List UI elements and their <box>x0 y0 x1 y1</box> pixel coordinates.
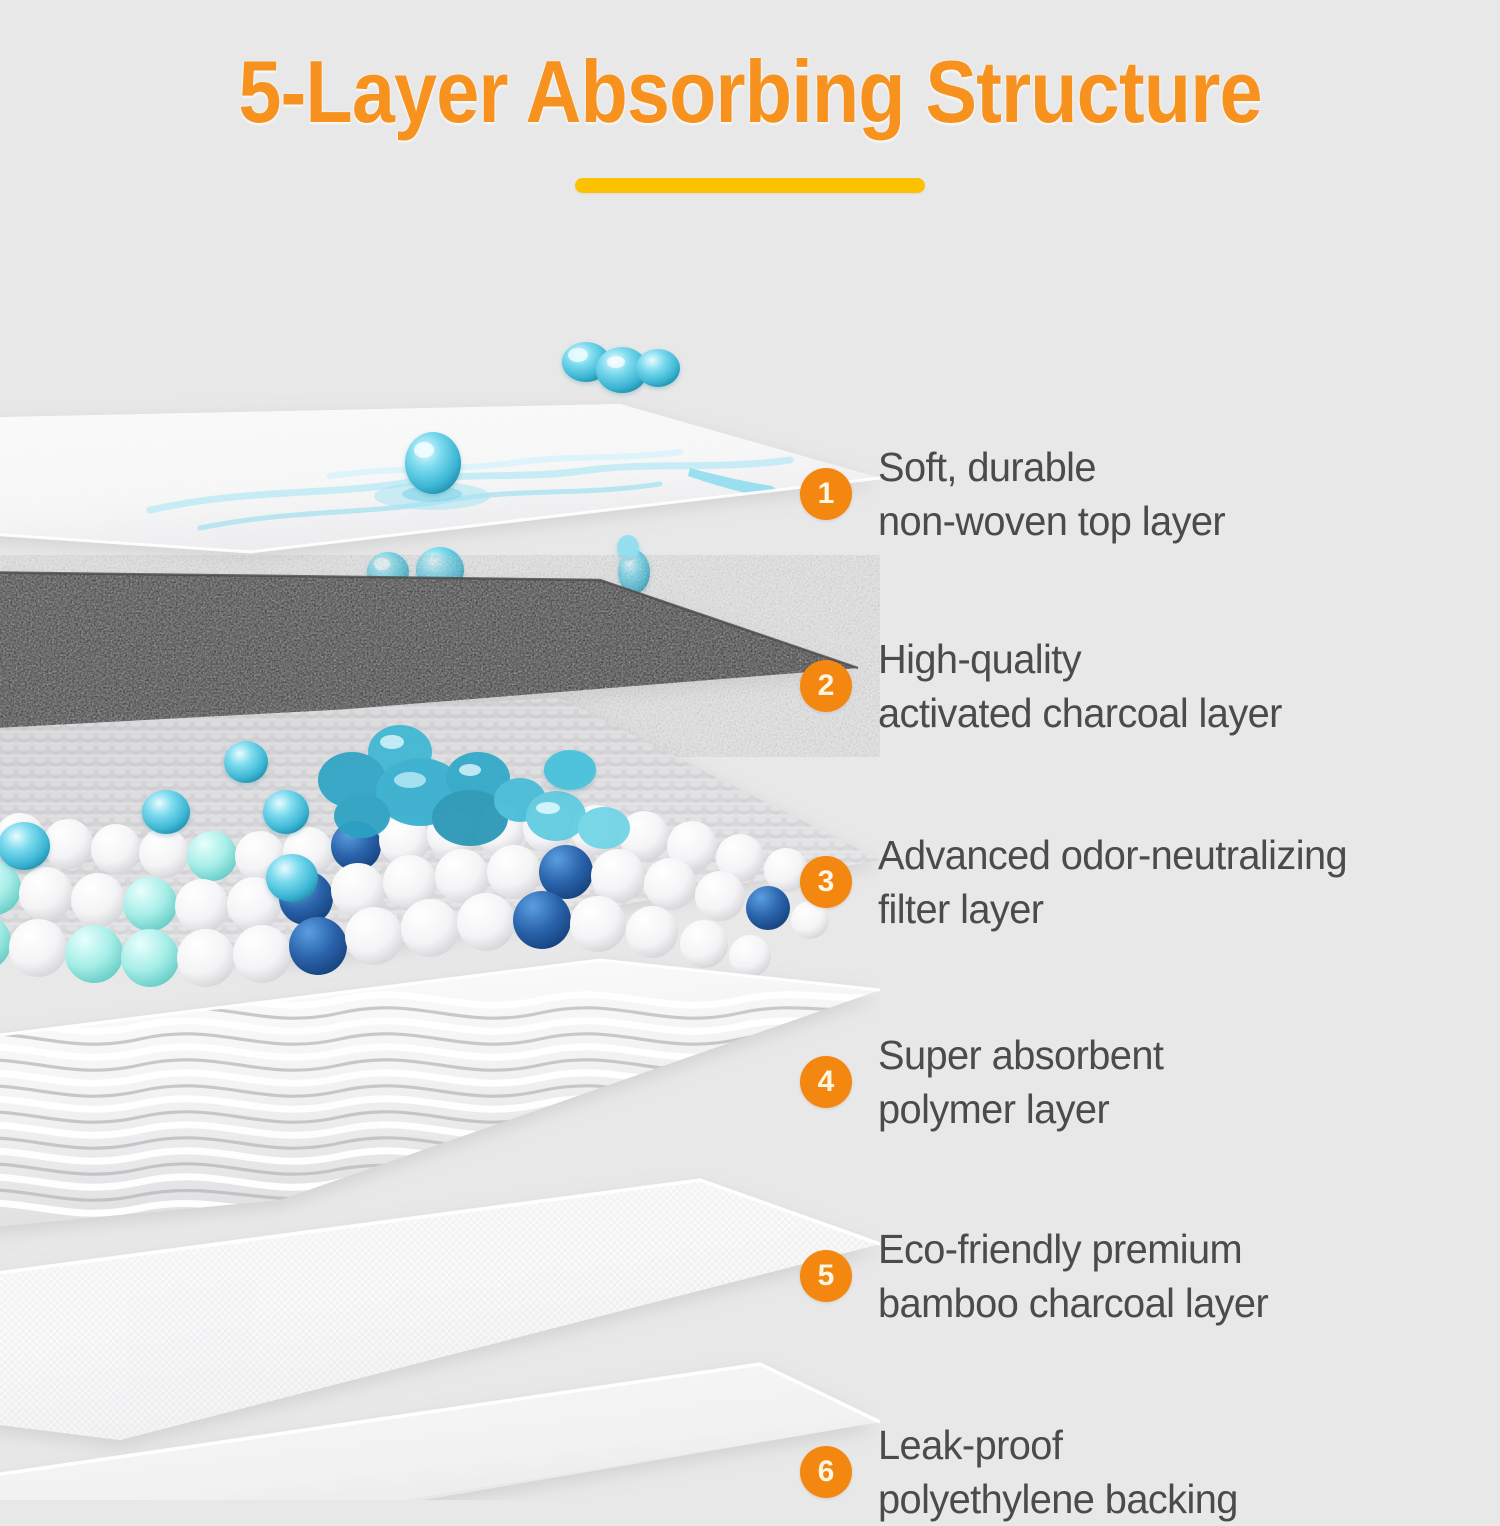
callout-badge-3: 3 <box>800 856 852 908</box>
callout-list: 1 Soft, durable non-woven top layer 2 Hi… <box>800 300 1500 1500</box>
callout-badge-6: 6 <box>800 1446 852 1498</box>
surface-droplet <box>405 432 461 494</box>
layer-3-odor-filter-layer <box>0 690 880 987</box>
callout-label-4: Super absorbent polymer layer <box>878 1028 1163 1136</box>
callout-item-1[interactable]: 1 Soft, durable non-woven top layer <box>800 440 1236 548</box>
callout-label-1: Soft, durable non-woven top layer <box>878 440 1225 548</box>
title-underline-rule <box>575 178 925 193</box>
callout-badge-2: 2 <box>800 660 852 712</box>
title-block: 5-Layer Absorbing Structure <box>0 46 1500 193</box>
callout-label-5: Eco-friendly premium bamboo charcoal lay… <box>878 1222 1268 1330</box>
callout-badge-5: 5 <box>800 1250 852 1302</box>
callout-item-6[interactable]: 6 Leak-proof polyethylene backing <box>800 1418 1249 1526</box>
callout-item-4[interactable]: 4 Super absorbent polymer layer <box>800 1028 1172 1136</box>
callout-badge-4: 4 <box>800 1056 852 1108</box>
callout-label-3: Advanced odor-neutralizing filter layer <box>878 828 1347 936</box>
layer-4-super-absorbent-polymer-layer <box>0 940 880 1240</box>
callout-label-2: High-quality activated charcoal layer <box>878 632 1282 740</box>
floating-droplet-cluster <box>562 342 680 393</box>
callout-label-6: Leak-proof polyethylene backing <box>878 1418 1238 1526</box>
callout-item-3[interactable]: 3 Advanced odor-neutralizing filter laye… <box>800 828 1362 936</box>
callout-badge-1: 1 <box>800 468 852 520</box>
page-title: 5-Layer Absorbing Structure <box>90 46 1410 138</box>
callout-item-2[interactable]: 2 High-quality activated charcoal layer <box>800 632 1294 740</box>
layer-stack-illustration <box>0 300 880 1500</box>
callout-item-5[interactable]: 5 Eco-friendly premium bamboo charcoal l… <box>800 1222 1280 1330</box>
